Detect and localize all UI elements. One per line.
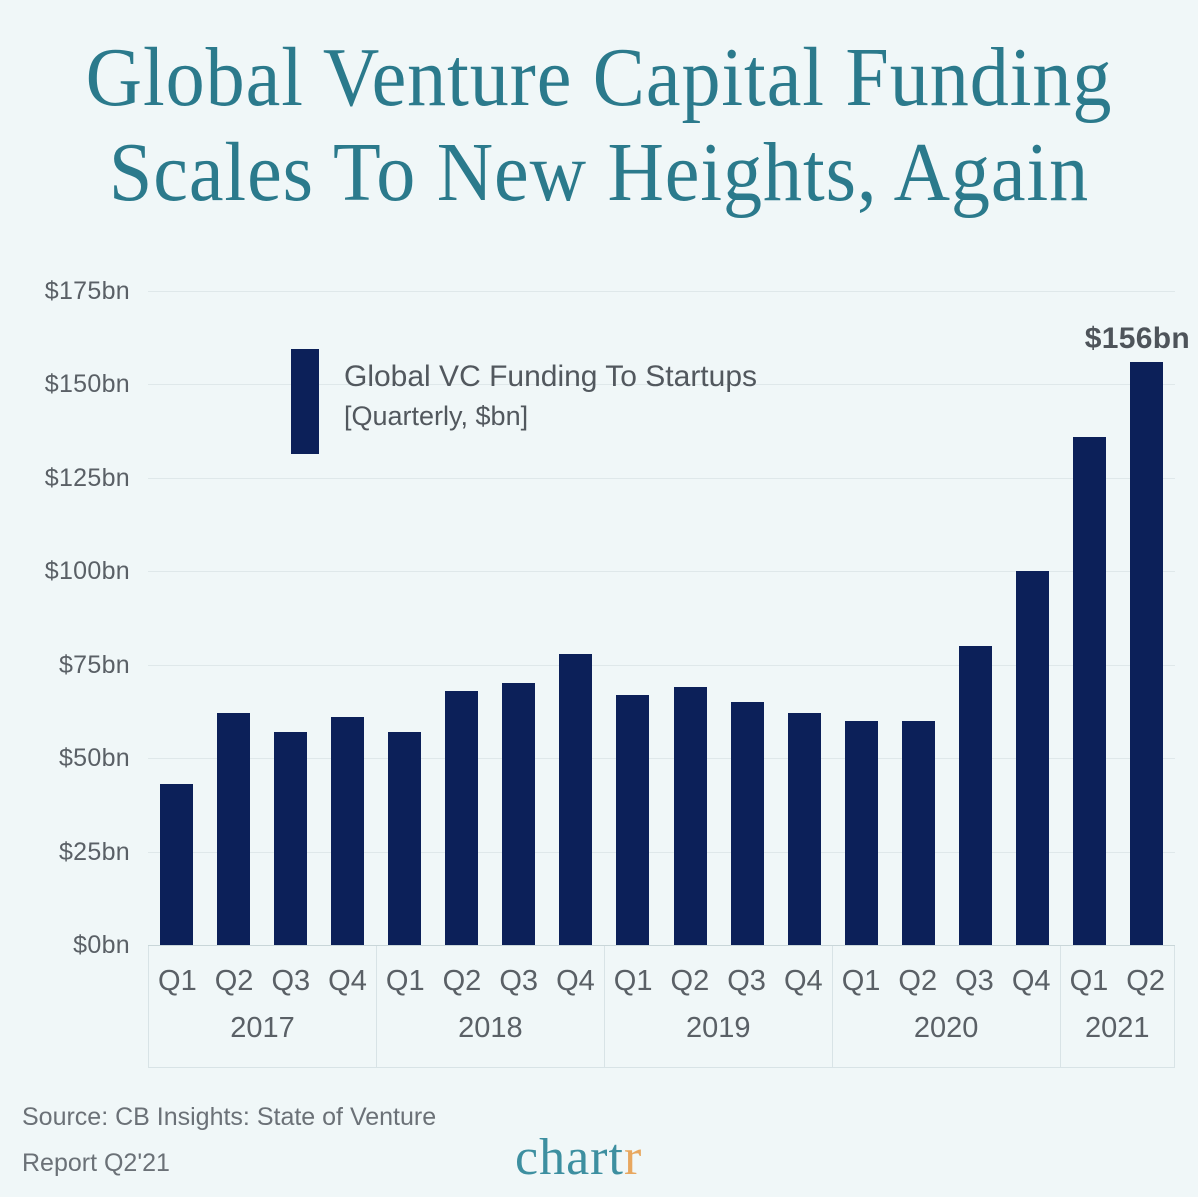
y-axis-tick-label: $175bn [10,279,130,304]
quarter-tick-label: Q2 [889,946,946,1016]
year-tick-label: 2019 [605,1012,832,1045]
y-axis-tick-label: $125bn [10,466,130,491]
quarter-tick-label: Q2 [662,946,719,1016]
year-tick-label: 2020 [833,1012,1060,1045]
quarter-tick-label: Q4 [319,946,376,1016]
bar [1073,437,1106,945]
bar [388,732,421,945]
quarter-tick-label: Q1 [605,946,662,1016]
bar [331,717,364,945]
quarter-tick-label: Q2 [434,946,491,1016]
quarter-row: Q1Q2Q3Q4 [149,946,376,1016]
y-axis-tick-label: $25bn [10,840,130,865]
legend-swatch-icon [291,349,319,454]
bar [959,646,992,945]
quarter-tick-label: Q3 [946,946,1003,1016]
logo-accent-text: r [624,1129,642,1186]
year-group: Q1Q22021 [1060,946,1175,1068]
year-tick-label: 2018 [377,1012,604,1045]
year-group: Q1Q2Q3Q42020 [832,946,1060,1068]
quarter-tick-label: Q1 [833,946,890,1016]
legend-text-block: Global VC Funding To Startups [Quarterly… [344,349,757,435]
bar [274,732,307,945]
bar [788,713,821,945]
title-line-1: Global Venture Capital Funding [42,30,1156,125]
quarter-tick-label: Q1 [1061,946,1118,1016]
quarter-tick-label: Q2 [1117,946,1174,1016]
bar [502,683,535,945]
bar [445,691,478,945]
bar [1016,571,1049,945]
chartr-logo: chartr [515,1132,642,1184]
chart-legend: Global VC Funding To Startups [Quarterly… [291,349,757,454]
quarter-tick-label: Q3 [718,946,775,1016]
bar [217,713,250,945]
bar [674,687,707,945]
quarter-row: Q1Q2Q3Q4 [605,946,832,1016]
quarter-tick-label: Q1 [149,946,206,1016]
quarter-tick-label: Q4 [547,946,604,1016]
y-axis-tick-label: $100bn [10,559,130,584]
quarter-tick-label: Q3 [262,946,319,1016]
quarter-tick-label: Q4 [1003,946,1060,1016]
logo-main-text: chart [515,1129,624,1186]
page-title: Global Venture Capital Funding Scales To… [0,30,1198,220]
quarter-tick-label: Q4 [775,946,832,1016]
bar [160,784,193,945]
x-axis: Q1Q2Q3Q42017Q1Q2Q3Q42018Q1Q2Q3Q42019Q1Q2… [148,946,1175,1068]
bar [1130,362,1163,945]
source-note: Source: CB Insights: State of Venture Re… [22,1094,442,1186]
year-tick-label: 2017 [149,1012,376,1045]
year-group: Q1Q2Q3Q42018 [376,946,604,1068]
bar [902,721,935,945]
legend-label: Global VC Funding To Startups [344,357,757,397]
peak-value-annotation: $156bn [1085,322,1190,356]
quarter-tick-label: Q2 [206,946,263,1016]
bar [845,721,878,945]
year-tick-label: 2021 [1061,1012,1174,1045]
quarter-tick-label: Q1 [377,946,434,1016]
y-axis-tick-label: $50bn [10,746,130,771]
bar [616,695,649,945]
bar [731,702,764,945]
year-group: Q1Q2Q3Q42019 [604,946,832,1068]
y-axis-tick-label: $75bn [10,653,130,678]
bar [559,654,592,945]
title-line-2: Scales To New Heights, Again [42,125,1156,220]
legend-sublabel: [Quarterly, $bn] [344,397,757,435]
quarter-tick-label: Q3 [490,946,547,1016]
quarter-row: Q1Q2 [1061,946,1174,1016]
y-axis: $0bn$25bn$50bn$75bn$100bn$125bn$150bn$17… [0,0,130,1197]
quarter-row: Q1Q2Q3Q4 [833,946,1060,1016]
year-group: Q1Q2Q3Q42017 [148,946,376,1068]
y-axis-tick-label: $0bn [10,933,130,958]
quarter-row: Q1Q2Q3Q4 [377,946,604,1016]
y-axis-tick-label: $150bn [10,372,130,397]
